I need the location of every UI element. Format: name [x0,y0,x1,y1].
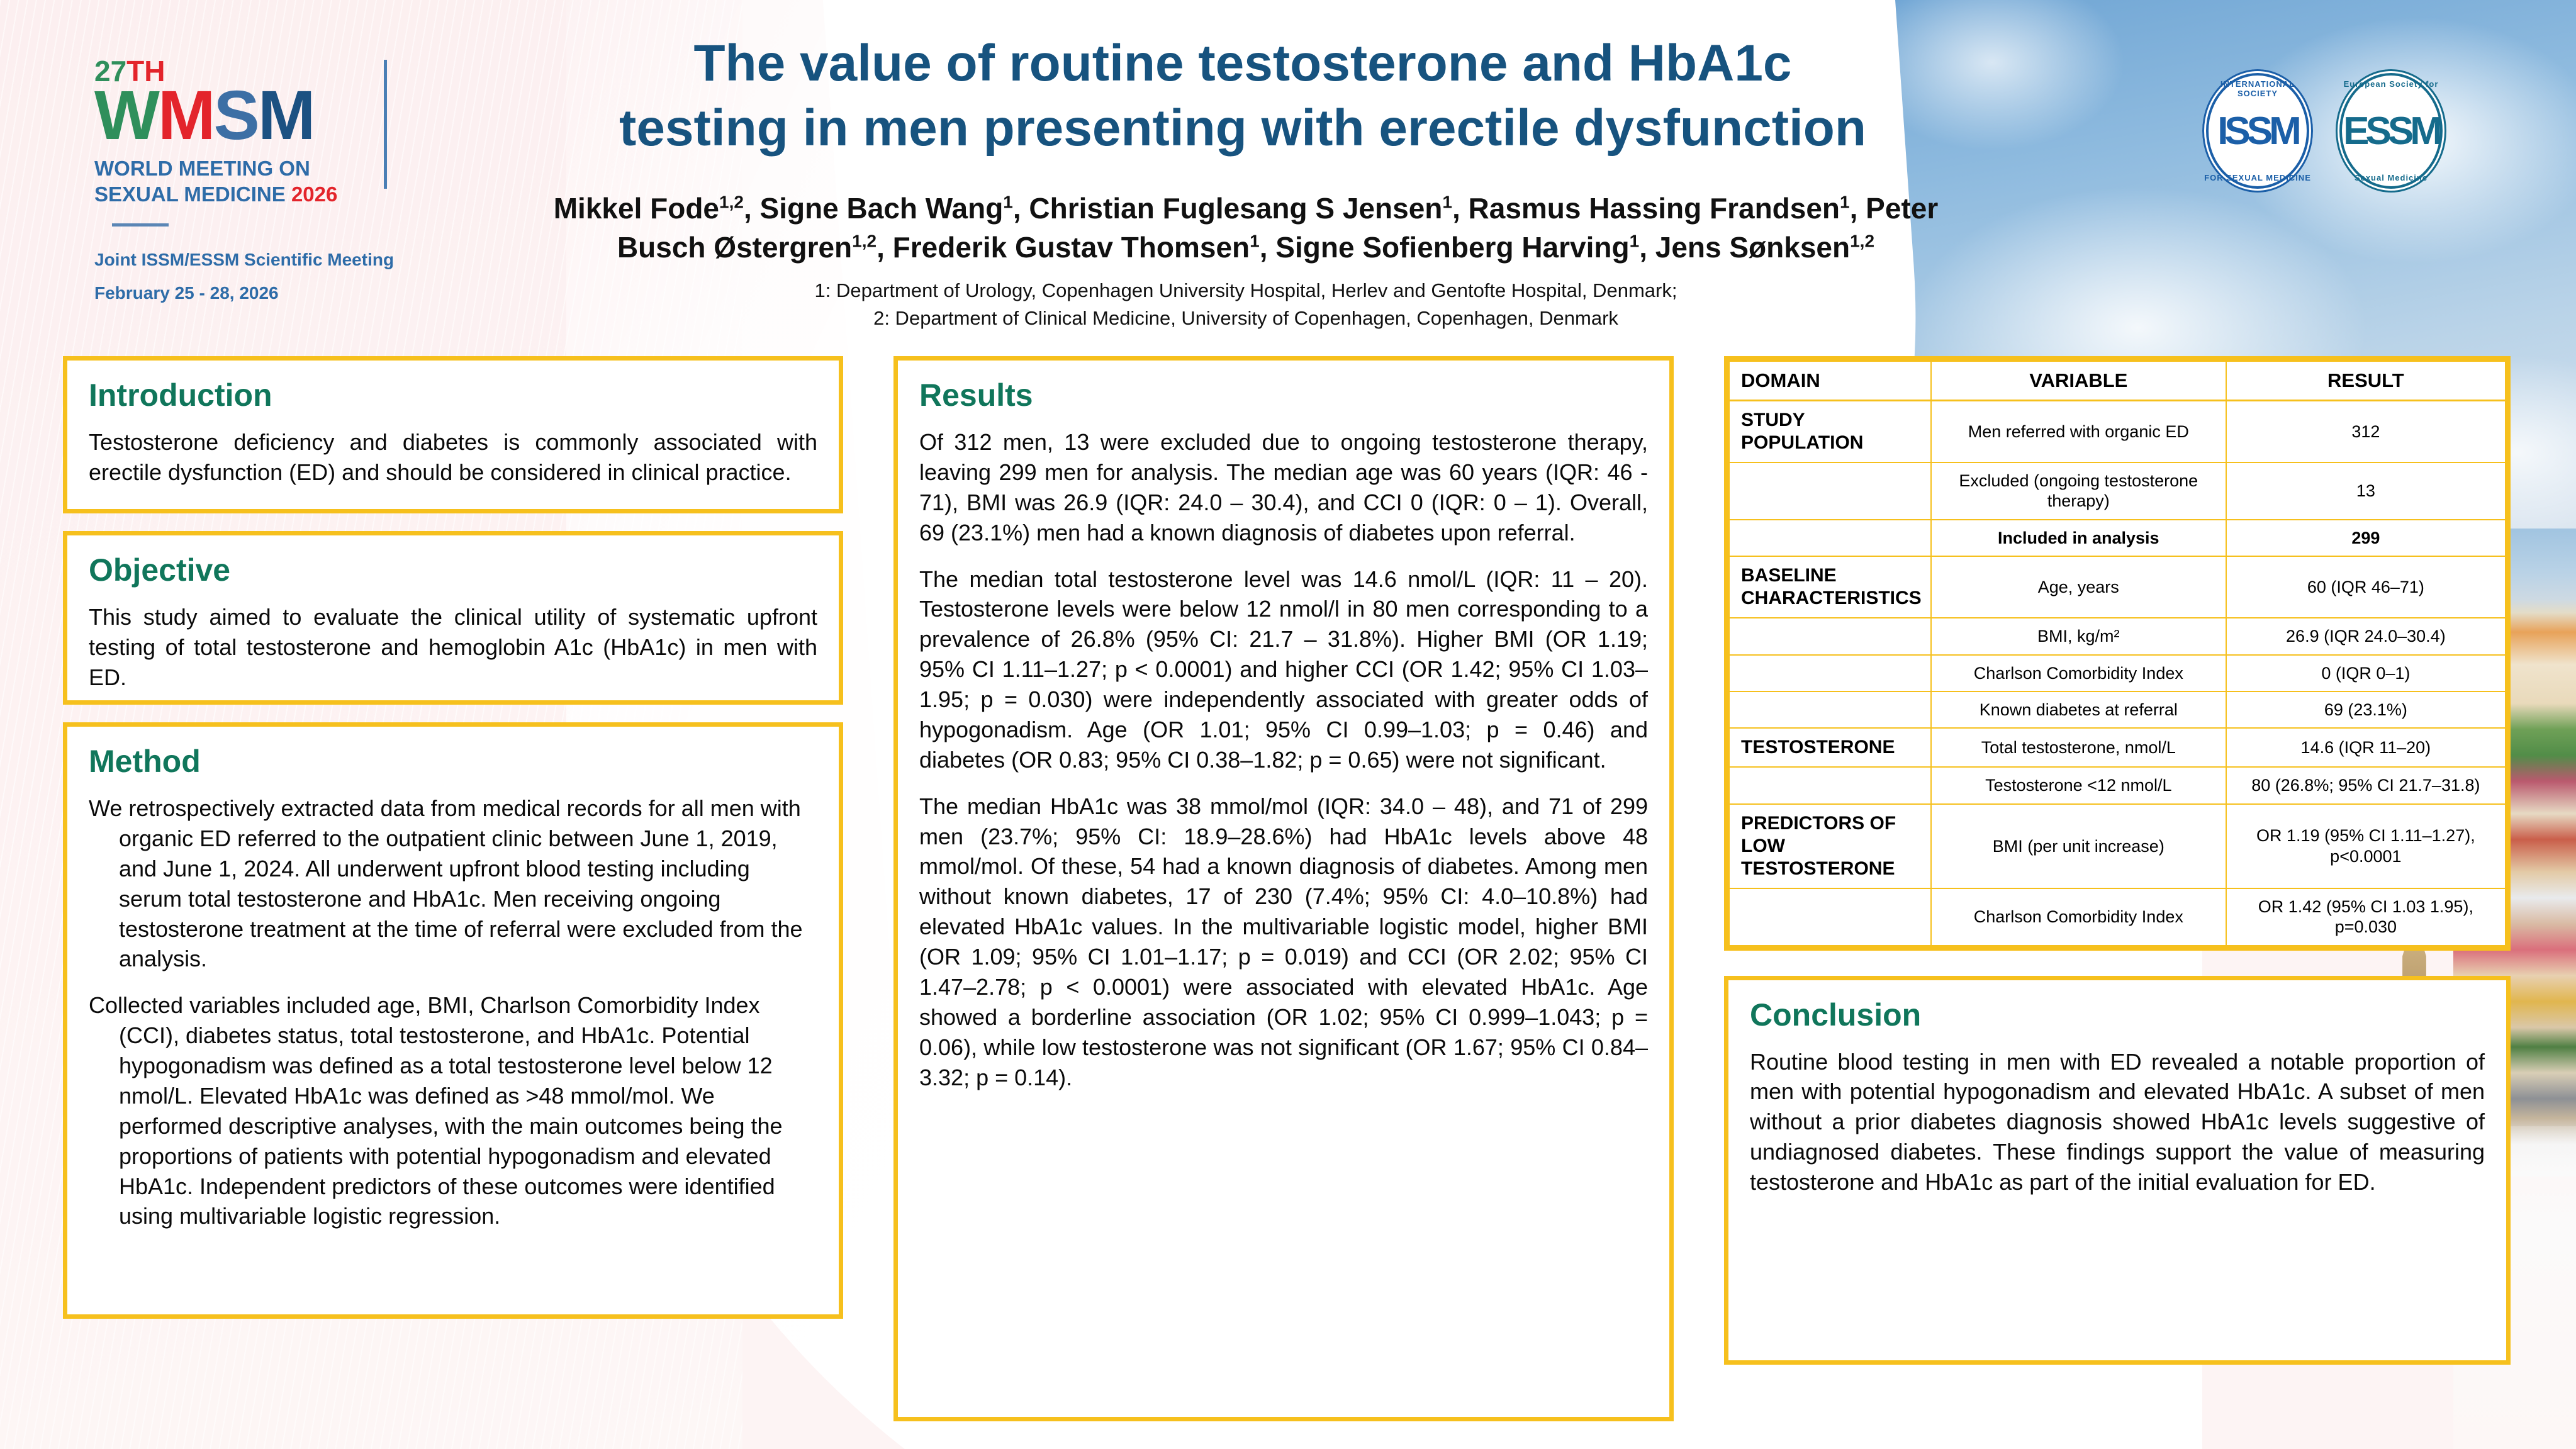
affiliation-2: 2: Department of Clinical Medicine, Univ… [522,305,1969,332]
conclusion-heading: Conclusion [1750,997,2485,1033]
table-cell-variable: Charlson Comorbidity Index [1931,655,2226,691]
table-cell-variable: Age, years [1931,556,2226,618]
results-summary-table-card: DOMAIN VARIABLE RESULT STUDY POPULATIONM… [1724,356,2511,951]
table-cell-variable: BMI, kg/m² [1931,618,2226,654]
introduction-heading: Introduction [89,377,817,413]
society-logos: INTERNATIONAL SOCIETY ISSM FOR SEXUAL ME… [2202,69,2446,193]
table-head: DOMAIN VARIABLE RESULT [1729,361,2506,401]
results-paragraph-2: The median total testosterone level was … [919,564,1648,775]
table-cell-domain [1729,618,1931,654]
table-body: STUDY POPULATIONMen referred with organi… [1729,401,2506,946]
table-row: PREDICTORS OF LOW TESTOSTERONEBMI (per u… [1729,804,2506,888]
logo-acronym: WMSM [94,83,497,149]
table-cell-result: 60 (IQR 46–71) [2226,556,2506,618]
essm-logo: European Society for ESSM Sexual Medicin… [2336,69,2446,193]
section-conclusion: Conclusion Routine blood testing in men … [1724,976,2511,1365]
table-cell-result: 13 [2226,462,2506,520]
table-row: Charlson Comorbidity Index0 (IQR 0–1) [1729,655,2506,691]
table-cell-variable: Excluded (ongoing testosterone therapy) [1931,462,2226,520]
section-introduction: Introduction Testosterone deficiency and… [63,356,843,513]
table-cell-result: 80 (26.8%; 95% CI 21.7–31.8) [2226,767,2506,803]
page-title-line2: testing in men presenting with erectile … [535,96,1951,161]
table-cell-result: 26.9 (IQR 24.0–30.4) [2226,618,2506,654]
table-cell-domain [1729,520,1931,556]
table-cell-domain: STUDY POPULATION [1729,401,1931,463]
logo-letter-w: W [94,77,158,154]
table-cell-result: OR 1.19 (95% CI 1.11–1.27), p<0.0001 [2226,804,2506,888]
table-cell-result: 14.6 (IQR 11–20) [2226,728,2506,767]
table-cell-domain: TESTOSTERONE [1729,728,1931,767]
table-row: STUDY POPULATIONMen referred with organi… [1729,401,2506,463]
section-results: Results Of 312 men, 13 were excluded due… [893,356,1674,1421]
column-middle: Results Of 312 men, 13 were excluded due… [893,356,1674,1439]
author-list-line1: Mikkel Fode1,2, Signe Bach Wang1, Christ… [522,189,1969,228]
table-row: Known diabetes at referral69 (23.1%) [1729,691,2506,728]
page-title: The value of routine testosterone and Hb… [535,31,1951,160]
table-cell-domain: PREDICTORS OF LOW TESTOSTERONE [1729,804,1931,888]
table-row: Charlson Comorbidity IndexOR 1.42 (95% C… [1729,888,2506,946]
issm-arc-top-text: INTERNATIONAL SOCIETY [2202,79,2313,98]
page-title-line1: The value of routine testosterone and Hb… [535,31,1951,96]
results-paragraph-1: Of 312 men, 13 were excluded due to ongo… [919,427,1648,548]
table-row: Testosterone <12 nmol/L80 (26.8%; 95% CI… [1729,767,2506,803]
table-cell-domain [1729,462,1931,520]
logo-divider-rule [112,223,169,227]
table-cell-variable: Testosterone <12 nmol/L [1931,767,2226,803]
author-list-line2: Busch Østergren1,2, Frederik Gustav Thom… [522,228,1969,267]
table-cell-variable: BMI (per unit increase) [1931,804,2226,888]
objective-heading: Objective [89,552,817,588]
essm-acronym: ESSM [2343,109,2439,154]
table-cell-variable: Charlson Comorbidity Index [1931,888,2226,946]
essm-arc-top-text: European Society for [2336,79,2446,89]
results-summary-table: DOMAIN VARIABLE RESULT STUDY POPULATIONM… [1728,361,2506,946]
table-cell-variable: Men referred with organic ED [1931,401,2226,463]
poster-canvas: 27TH WMSM WORLD MEETING ON SEXUAL MEDICI… [0,0,2576,1449]
issm-acronym: ISSM [2217,109,2298,154]
logo-letter-m: M [158,77,214,154]
logo-subtitle-line1: WORLD MEETING ON [94,155,497,181]
table-row: Included in analysis299 [1729,520,2506,556]
table-cell-result: OR 1.42 (95% CI 1.03 1.95), p=0.030 [2226,888,2506,946]
affiliation-1: 1: Department of Urology, Copenhagen Uni… [522,277,1969,305]
table-row: Excluded (ongoing testosterone therapy)1… [1729,462,2506,520]
author-list: Mikkel Fode1,2, Signe Bach Wang1, Christ… [522,189,1969,267]
logo-subtitle-line2-text: SEXUAL MEDICINE [94,182,286,206]
table-cell-domain: BASELINE CHARACTERISTICS [1729,556,1931,618]
table-cell-result: 299 [2226,520,2506,556]
logo-letter-m2: M [258,77,314,154]
affiliations: 1: Department of Urology, Copenhagen Uni… [522,277,1969,332]
issm-logo: INTERNATIONAL SOCIETY ISSM FOR SEXUAL ME… [2202,69,2313,193]
issm-arc-bottom-text: FOR SEXUAL MEDICINE [2202,173,2313,182]
section-method: Method We retrospectively extracted data… [63,722,843,1319]
table-col-result: RESULT [2226,361,2506,401]
table-cell-domain [1729,655,1931,691]
method-heading: Method [89,743,817,780]
logo-subtitle-line2: SEXUAL MEDICINE 2026 [94,181,497,207]
logo-year: 2026 [291,182,337,206]
table-cell-variable: Total testosterone, nmol/L [1931,728,2226,767]
table-header-row: DOMAIN VARIABLE RESULT [1729,361,2506,401]
table-cell-domain [1729,888,1931,946]
logo-letter-s: S [213,77,257,154]
table-row: TESTOSTERONETotal testosterone, nmol/L14… [1729,728,2506,767]
column-left: Introduction Testosterone deficiency and… [63,356,843,1336]
table-col-variable: VARIABLE [1931,361,2226,401]
method-paragraph-2: Collected variables included age, BMI, C… [89,990,817,1231]
conference-logo: 27TH WMSM WORLD MEETING ON SEXUAL MEDICI… [94,57,497,310]
table-cell-result: 312 [2226,401,2506,463]
objective-body: This study aimed to evaluate the clinica… [89,602,817,693]
conclusion-body: Routine blood testing in men with ED rev… [1750,1047,2485,1197]
results-paragraph-3: The median HbA1c was 38 mmol/mol (IQR: 3… [919,792,1648,1093]
logo-meeting-dates: February 25 - 28, 2026 [94,276,497,310]
table-row: BASELINE CHARACTERISTICSAge, years60 (IQ… [1729,556,2506,618]
section-objective: Objective This study aimed to evaluate t… [63,531,843,705]
table-cell-variable: Included in analysis [1931,520,2226,556]
logo-vertical-divider [384,60,387,189]
column-right: DOMAIN VARIABLE RESULT STUDY POPULATIONM… [1724,356,2511,1382]
introduction-body: Testosterone deficiency and diabetes is … [89,427,817,488]
table-cell-result: 69 (23.1%) [2226,691,2506,728]
table-row: BMI, kg/m²26.9 (IQR 24.0–30.4) [1729,618,2506,654]
table-col-domain: DOMAIN [1729,361,1931,401]
logo-subtitle: WORLD MEETING ON SEXUAL MEDICINE 2026 [94,155,497,208]
results-heading: Results [919,377,1648,413]
method-paragraph-1: We retrospectively extracted data from m… [89,793,817,974]
essm-arc-bottom-text: Sexual Medicine [2336,173,2446,182]
table-cell-result: 0 (IQR 0–1) [2226,655,2506,691]
logo-meeting-name: Joint ISSM/ESSM Scientific Meeting [94,243,497,276]
table-cell-variable: Known diabetes at referral [1931,691,2226,728]
table-cell-domain [1729,767,1931,803]
table-cell-domain [1729,691,1931,728]
